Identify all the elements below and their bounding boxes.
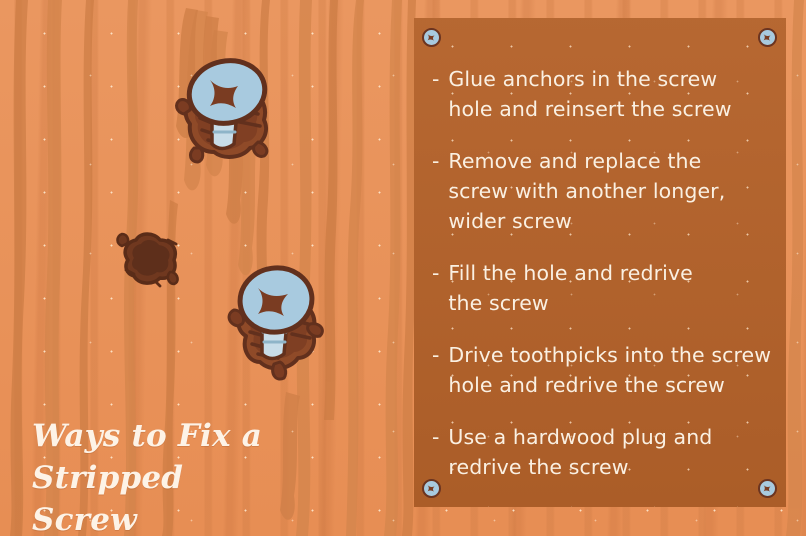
- title-line-1: Ways to Fix a Stripped: [32, 415, 392, 499]
- tip-text-5: Use a hardwood plug and redrive the scre…: [448, 422, 712, 482]
- title-block: Ways to Fix a Stripped Screw Hole from: [32, 415, 392, 536]
- bullet-dash: -: [432, 340, 439, 370]
- title-row-2: Screw Hole from the spruce: [32, 499, 392, 536]
- phillips-cross-icon: [426, 32, 437, 43]
- panel-screw-top-left: [422, 28, 441, 47]
- title-line-2: Screw Hole: [32, 499, 219, 536]
- bullet-dash: -: [432, 422, 439, 452]
- panel-screw-top-right: [758, 28, 777, 47]
- tip-text-4: Drive toothpicks into the screw hole and…: [448, 340, 771, 400]
- tip-item-2: - Remove and replace the screw with anot…: [432, 146, 776, 236]
- bullet-dash: -: [432, 258, 439, 288]
- tip-item-5: - Use a hardwood plug and redrive the sc…: [432, 422, 776, 482]
- phillips-cross-icon: [762, 32, 773, 43]
- bullet-dash: -: [432, 64, 439, 94]
- stripped-screw-top: [172, 52, 282, 172]
- tips-panel: - Glue anchors in the screw hole and rei…: [414, 18, 786, 507]
- tip-item-1: - Glue anchors in the screw hole and rei…: [432, 64, 776, 124]
- tip-item-4: - Drive toothpicks into the screw hole a…: [432, 340, 776, 400]
- bullet-dash: -: [432, 146, 439, 176]
- empty-stripped-hole: [116, 226, 182, 290]
- tip-text-1: Glue anchors in the screw hole and reins…: [448, 64, 731, 124]
- tip-item-3: - Fill the hole and redrive the screw: [432, 258, 776, 318]
- tip-text-3: Fill the hole and redrive the screw: [448, 258, 692, 318]
- tips-list: - Glue anchors in the screw hole and rei…: [432, 64, 776, 504]
- tip-text-2: Remove and replace the screw with anothe…: [448, 146, 725, 236]
- infographic-canvas: Ways to Fix a Stripped Screw Hole from: [0, 0, 806, 536]
- stripped-screw-bottom: [218, 258, 330, 383]
